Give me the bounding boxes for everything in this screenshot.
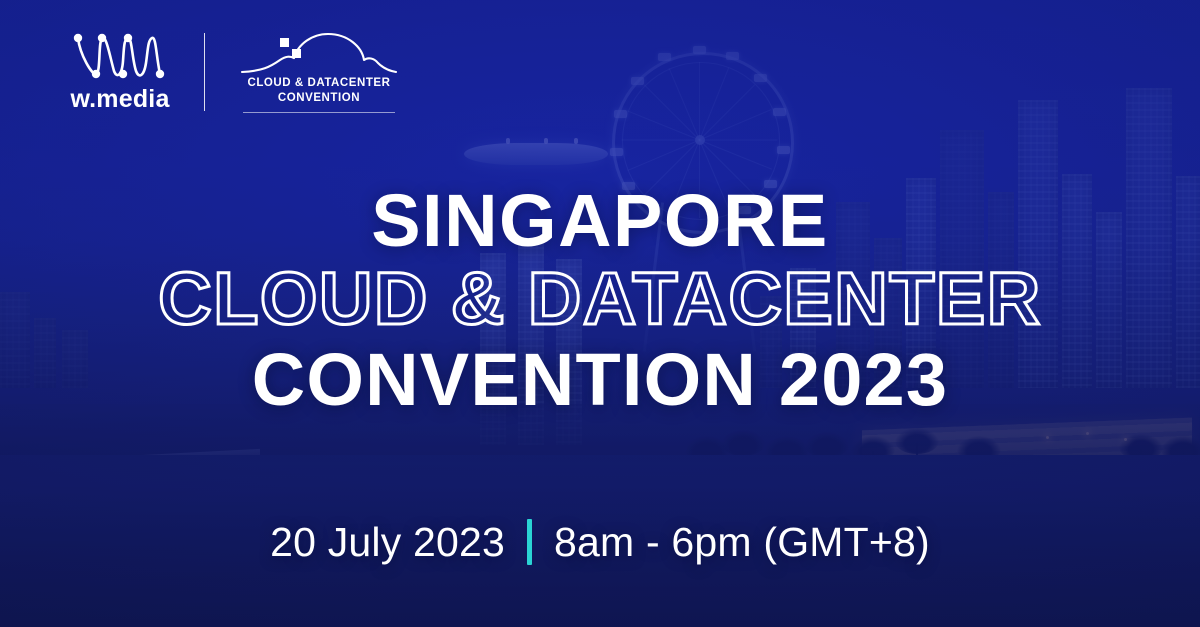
event-datetime-row: 20 July 2023 8am - 6pm (GMT+8) bbox=[0, 519, 1200, 565]
w-zigzag-waveform-icon bbox=[70, 31, 170, 81]
logo-bar: w.media CLOUD & DATACENTER CONVENTION bbox=[64, 30, 405, 113]
datetime-separator bbox=[527, 519, 532, 565]
headline-line-3: CONVENTION 2023 bbox=[0, 342, 1200, 417]
logo-divider bbox=[204, 33, 205, 111]
convention-logo-line1: CLOUD & DATACENTER bbox=[248, 76, 391, 91]
headline-line-2: CLOUD & DATACENTER bbox=[0, 260, 1200, 338]
convention-logo-rule bbox=[243, 112, 395, 113]
event-banner: w.media CLOUD & DATACENTER CONVENTION SI… bbox=[0, 0, 1200, 627]
headline-block: SINGAPORE CLOUD & DATACENTER CONVENTION … bbox=[0, 186, 1200, 417]
cloud-outline-icon bbox=[236, 30, 402, 76]
event-time: 8am - 6pm (GMT+8) bbox=[554, 522, 930, 563]
wmedia-logo[interactable]: w.media bbox=[64, 31, 176, 112]
convention-logo-line2: CONVENTION bbox=[278, 91, 360, 106]
headline-line-1: SINGAPORE bbox=[0, 186, 1200, 256]
event-date: 20 July 2023 bbox=[270, 522, 505, 563]
convention-logo[interactable]: CLOUD & DATACENTER CONVENTION bbox=[233, 30, 405, 113]
wmedia-wordmark: w.media bbox=[70, 87, 169, 112]
